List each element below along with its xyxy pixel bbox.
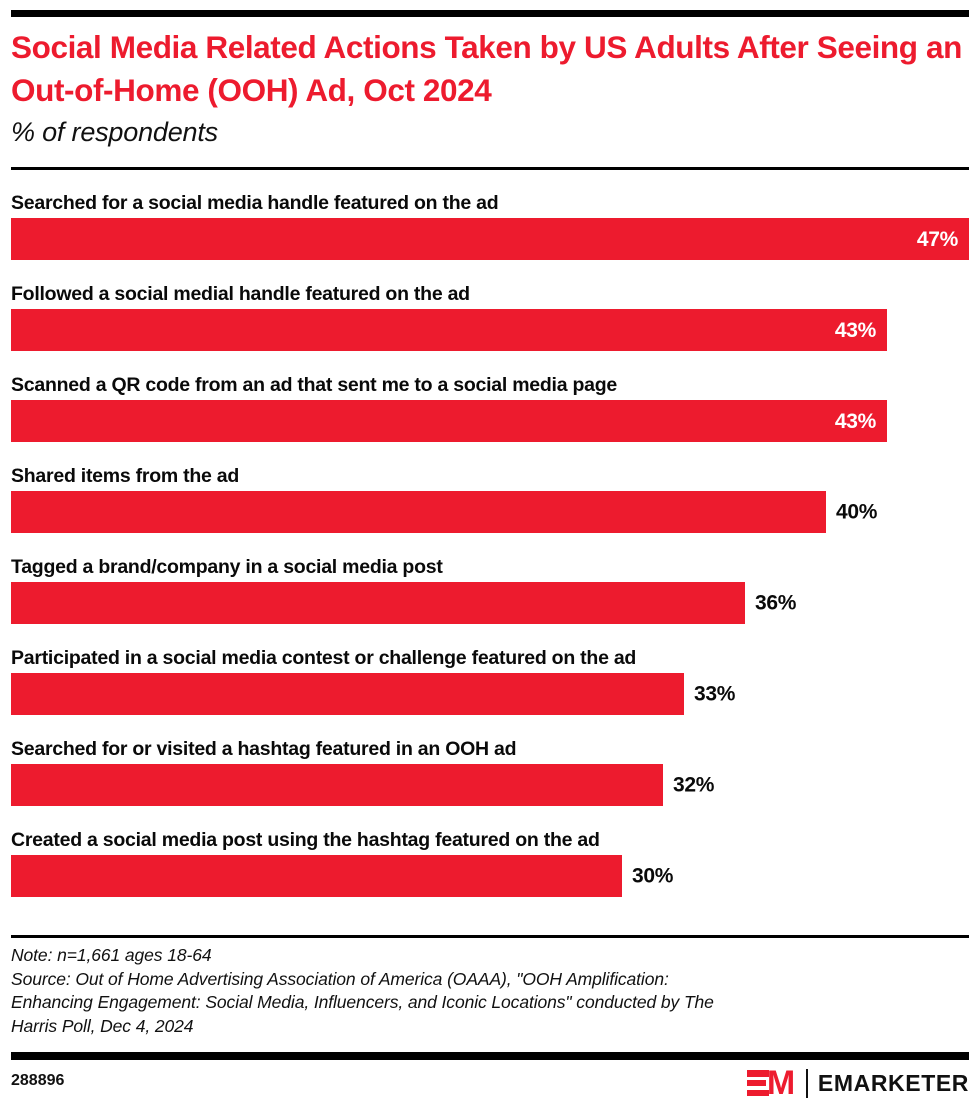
bar-row: Searched for a social media handle featu… bbox=[11, 186, 969, 277]
chart-bottom-bar: 288896 M EMARKETER bbox=[11, 1064, 969, 1104]
bar-row: Searched for or visited a hashtag featur… bbox=[11, 732, 969, 823]
logo-e-bars-icon bbox=[747, 1070, 769, 1096]
bar-row: Created a social media post using the ha… bbox=[11, 823, 969, 914]
bar-row: Followed a social medial handle featured… bbox=[11, 277, 969, 368]
source-text-line-2: Enhancing Engagement: Social Media, Infl… bbox=[11, 991, 969, 1015]
chart-id: 288896 bbox=[11, 1072, 64, 1090]
subtitle-divider bbox=[11, 167, 969, 170]
bar-value-label: 30% bbox=[622, 866, 673, 887]
bar-track: 47% bbox=[11, 218, 969, 260]
bar-category-label: Participated in a social media contest o… bbox=[11, 641, 969, 669]
bar-track: 40% bbox=[11, 491, 969, 533]
bar-track: 30% bbox=[11, 855, 969, 897]
logo-m-letter: M bbox=[767, 1067, 795, 1099]
bar-value-label: 43% bbox=[835, 411, 887, 432]
note-text: Note: n=1,661 ages 18-64 bbox=[11, 944, 969, 968]
bar-fill bbox=[11, 491, 826, 533]
chart-footnotes: Note: n=1,661 ages 18-64 Source: Out of … bbox=[11, 944, 969, 1038]
footer-bottom-divider bbox=[11, 1052, 969, 1060]
emarketer-logo: M EMARKETER bbox=[747, 1066, 969, 1100]
footer-top-divider bbox=[11, 935, 969, 938]
bar-value-label: 47% bbox=[917, 229, 969, 250]
emarketer-logo-mark-icon: M bbox=[747, 1067, 797, 1099]
bar-category-label: Searched for a social media handle featu… bbox=[11, 186, 969, 214]
bar-value-label: 32% bbox=[663, 775, 714, 796]
bar-category-label: Created a social media post using the ha… bbox=[11, 823, 969, 851]
bar-fill bbox=[11, 764, 663, 806]
bar-value-label: 43% bbox=[835, 320, 887, 341]
logo-divider bbox=[806, 1069, 808, 1098]
bar-fill bbox=[11, 673, 684, 715]
bar-track: 43% bbox=[11, 309, 969, 351]
chart-subtitle: % of respondents bbox=[11, 115, 969, 149]
bar-fill: 43% bbox=[11, 400, 887, 442]
bar-value-label: 36% bbox=[745, 593, 796, 614]
source-text-line-1: Source: Out of Home Advertising Associat… bbox=[11, 968, 969, 992]
bar-row: Tagged a brand/company in a social media… bbox=[11, 550, 969, 641]
source-text-line-3: Harris Poll, Dec 4, 2024 bbox=[11, 1015, 969, 1039]
bar-category-label: Tagged a brand/company in a social media… bbox=[11, 550, 969, 578]
bar-track: 36% bbox=[11, 582, 969, 624]
bar-fill bbox=[11, 855, 622, 897]
bar-category-label: Shared items from the ad bbox=[11, 459, 969, 487]
bar-track: 43% bbox=[11, 400, 969, 442]
bar-category-label: Followed a social medial handle featured… bbox=[11, 277, 969, 305]
chart-header: Social Media Related Actions Taken by US… bbox=[11, 26, 969, 149]
top-divider bbox=[11, 10, 969, 17]
bar-track: 32% bbox=[11, 764, 969, 806]
bar-row: Scanned a QR code from an ad that sent m… bbox=[11, 368, 969, 459]
chart-page: Social Media Related Actions Taken by US… bbox=[0, 0, 980, 1109]
page-title: Social Media Related Actions Taken by US… bbox=[11, 26, 969, 112]
bar-row: Shared items from the ad40% bbox=[11, 459, 969, 550]
bar-row: Participated in a social media contest o… bbox=[11, 641, 969, 732]
bar-fill: 47% bbox=[11, 218, 969, 260]
bar-value-label: 40% bbox=[826, 502, 877, 523]
bar-track: 33% bbox=[11, 673, 969, 715]
bar-fill bbox=[11, 582, 745, 624]
bar-fill: 43% bbox=[11, 309, 887, 351]
bar-category-label: Scanned a QR code from an ad that sent m… bbox=[11, 368, 969, 396]
bar-value-label: 33% bbox=[684, 684, 735, 705]
bar-category-label: Searched for or visited a hashtag featur… bbox=[11, 732, 969, 760]
brand-name: EMARKETER bbox=[818, 1072, 969, 1095]
bar-chart-plot: Searched for a social media handle featu… bbox=[11, 186, 969, 914]
